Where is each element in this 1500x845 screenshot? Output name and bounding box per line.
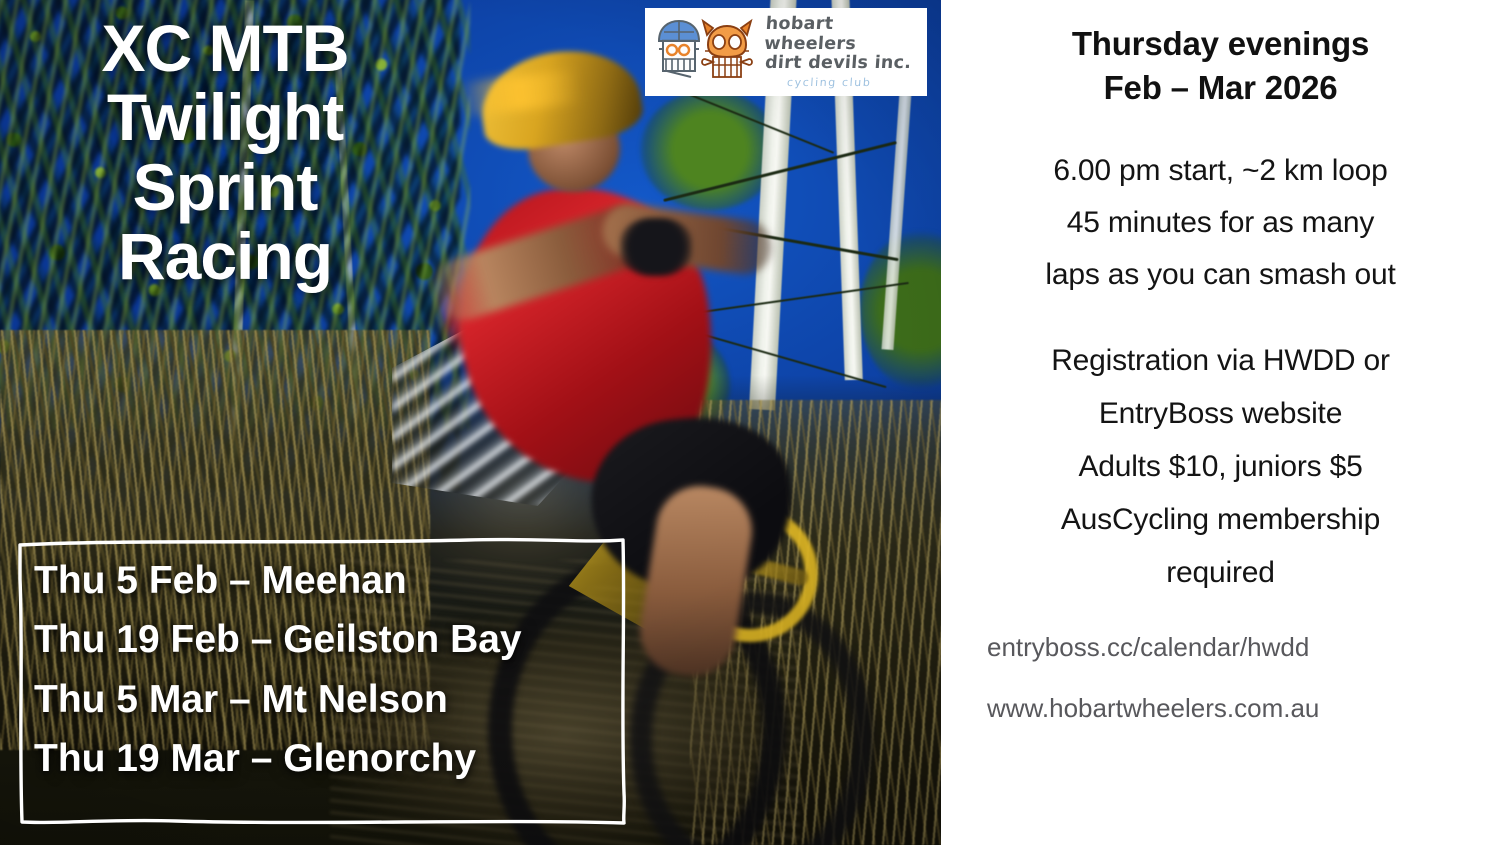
race-date-2: Thu 19 Feb – Geilston Bay bbox=[34, 610, 634, 669]
title-line-1: XC MTB bbox=[20, 14, 430, 83]
format-start-time: 6.00 pm start, ~2 km loop bbox=[1045, 151, 1395, 190]
heading-line-2: Feb – Mar 2026 bbox=[1072, 66, 1369, 110]
devil-skull-icon bbox=[702, 21, 752, 77]
link-club-website[interactable]: www.hobartwheelers.com.au bbox=[987, 693, 1482, 724]
logo-mascots bbox=[653, 15, 761, 89]
pricing-line: Adults $10, juniors $5 bbox=[1051, 447, 1390, 486]
poster-root: XC MTB Twilight Sprint Racing bbox=[0, 0, 1500, 845]
format-duration-line-2: laps as you can smash out bbox=[1045, 255, 1395, 294]
title-line-2: Twilight bbox=[20, 83, 430, 152]
poster-title: XC MTB Twilight Sprint Racing bbox=[20, 14, 430, 291]
heading-line-1: Thursday evenings bbox=[1072, 22, 1369, 66]
format-duration-line-1: 45 minutes for as many bbox=[1045, 203, 1395, 242]
race-date-4: Thu 19 Mar – Glenorchy bbox=[34, 729, 634, 788]
registration-line-1: Registration via HWDD or bbox=[1051, 341, 1390, 380]
website-links: entryboss.cc/calendar/hwdd www.hobartwhe… bbox=[959, 632, 1482, 754]
race-dates-box: Thu 5 Feb – Meehan Thu 19 Feb – Geilston… bbox=[16, 535, 628, 827]
logo-line-2: dirt devils inc. bbox=[764, 54, 919, 74]
robot-head-icon bbox=[659, 21, 699, 77]
race-date-1: Thu 5 Feb – Meehan bbox=[34, 551, 634, 610]
race-date-3: Thu 5 Mar – Mt Nelson bbox=[34, 670, 634, 729]
format-details: 6.00 pm start, ~2 km loop 45 minutes for… bbox=[1045, 151, 1395, 307]
logo-line-3: cycling club bbox=[787, 76, 920, 89]
membership-line-1: AusCycling membership bbox=[1051, 500, 1390, 539]
link-entryboss[interactable]: entryboss.cc/calendar/hwdd bbox=[987, 632, 1482, 663]
registration-details: Registration via HWDD or EntryBoss websi… bbox=[1051, 341, 1390, 606]
info-panel: Thursday evenings Feb – Mar 2026 6.00 pm… bbox=[941, 0, 1500, 845]
title-line-3: Sprint bbox=[20, 153, 430, 222]
title-line-4: Racing bbox=[20, 222, 430, 291]
race-dates-list: Thu 5 Feb – Meehan Thu 19 Feb – Geilston… bbox=[34, 551, 634, 788]
registration-line-2: EntryBoss website bbox=[1051, 394, 1390, 433]
logo-wordmark: hobart wheelers dirt devils inc. cycling… bbox=[765, 15, 919, 89]
info-heading: Thursday evenings Feb – Mar 2026 bbox=[1072, 22, 1369, 109]
club-logo: hobart wheelers dirt devils inc. cycling… bbox=[645, 8, 927, 96]
membership-line-2: required bbox=[1051, 553, 1390, 592]
logo-line-1: hobart wheelers bbox=[764, 15, 921, 54]
